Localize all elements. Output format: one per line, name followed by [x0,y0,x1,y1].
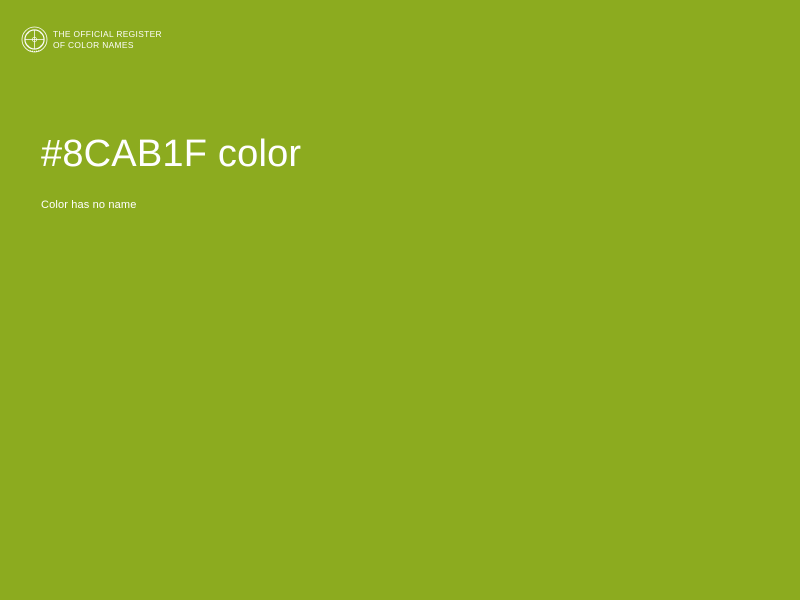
brand-wordmark: THE OFFICIAL REGISTER OF COLOR NAMES [53,29,162,49]
brand-wordmark-line-1: THE OFFICIAL REGISTER [53,29,162,39]
color-page: THE OFFICIAL REGISTER OF COLOR NAMES #8C… [0,0,800,600]
site-brand[interactable]: THE OFFICIAL REGISTER OF COLOR NAMES [21,26,162,53]
color-name-status: Color has no name [41,198,137,212]
register-seal-icon [21,26,48,53]
brand-wordmark-line-2: OF COLOR NAMES [53,40,162,50]
page-title: #8CAB1F color [41,131,301,177]
